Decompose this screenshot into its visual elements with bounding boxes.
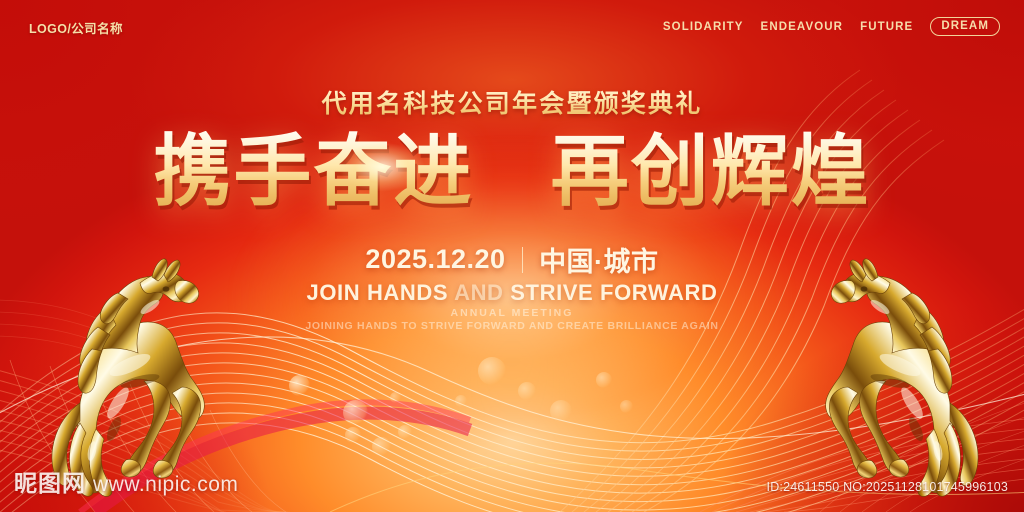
annual-meeting-label: ANNUAL MEETING [0, 307, 1024, 319]
bokeh-dot [343, 400, 368, 425]
slogan-list: SOLIDARITY ENDEAVOUR FUTURE DREAM [663, 17, 1000, 36]
bokeh-dot [478, 357, 506, 385]
asset-id-text: ID:24611550 NO:20251128101745996103 [767, 480, 1008, 494]
bokeh-dot [345, 427, 361, 443]
date-location-divider [522, 247, 524, 273]
bokeh-dot [596, 372, 612, 388]
slogan-future: FUTURE [860, 21, 913, 33]
bokeh-dot [620, 400, 633, 413]
bokeh-dot [455, 395, 467, 407]
event-location: 中国·城市 [539, 240, 659, 279]
slogan-solidarity: SOLIDARITY [663, 21, 744, 33]
event-date-location: 2025.12.20 中国·城市 [0, 240, 1024, 279]
headline-part-2: 再创辉煌 [551, 131, 871, 213]
watermark: 昵图网 www.nipic.com [14, 464, 238, 498]
logo-company-name[interactable]: LOGO/公司名称 [29, 18, 123, 37]
english-headline-and: AND [454, 280, 503, 305]
english-tagline: JOINING HANDS TO STRIVE FORWARD AND CREA… [0, 320, 1024, 332]
slogan-endeavour: ENDEAVOUR [761, 21, 844, 33]
bokeh-dot [289, 375, 310, 396]
bokeh-dot [398, 425, 412, 439]
bokeh-dot [390, 392, 401, 403]
bokeh-dot [550, 400, 572, 422]
watermark-site-name: 昵图网 [14, 464, 86, 498]
slogan-dream-pill: DREAM [930, 17, 1000, 36]
poster-canvas: LOGO/公司名称 SOLIDARITY ENDEAVOUR FUTURE DR… [0, 0, 1024, 512]
english-headline-part-2: STRIVE FORWARD [510, 280, 717, 305]
watermark-url: www.nipic.com [93, 473, 238, 497]
event-date: 2025.12.20 [365, 244, 505, 275]
english-headline: JOIN HANDS AND STRIVE FORWARD [0, 280, 1024, 306]
bokeh-dot [372, 437, 391, 456]
bokeh-dot [518, 382, 536, 400]
english-headline-part-1: JOIN HANDS [306, 280, 448, 305]
event-subtitle: 代用名科技公司年会暨颁奖典礼 [0, 84, 1024, 120]
page-title: 携手奋进 再创辉煌 [0, 131, 1024, 213]
headline-part-1: 携手奋进 [153, 131, 473, 213]
